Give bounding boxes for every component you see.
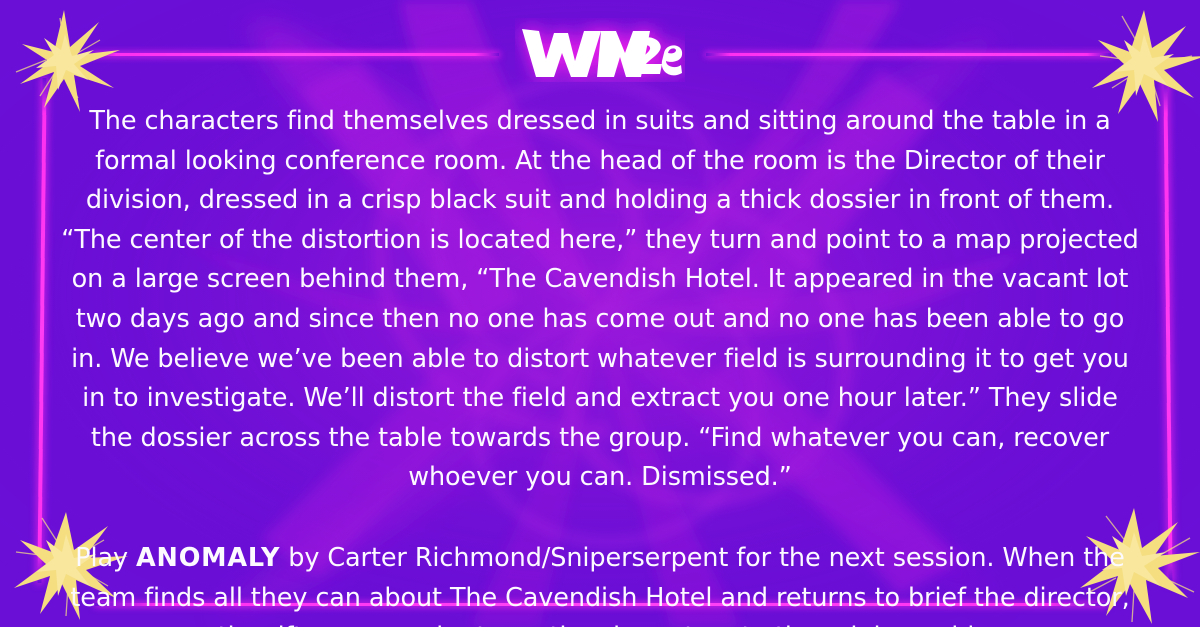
wm2e-logo-mark <box>515 18 685 82</box>
promo-card: The characters find themselves dressed i… <box>0 0 1200 627</box>
scene-paragraph: The characters find themselves dressed i… <box>56 102 1144 498</box>
wm2e-logo <box>0 18 1200 82</box>
play-instruction-paragraph: Play ANOMALY by Carter Richmond/Sniperse… <box>56 539 1144 627</box>
card-content: The characters find themselves dressed i… <box>0 0 1200 627</box>
play-prefix: Play <box>75 543 136 573</box>
game-title: ANOMALY <box>136 543 280 573</box>
body-text-block: The characters find themselves dressed i… <box>56 102 1144 627</box>
